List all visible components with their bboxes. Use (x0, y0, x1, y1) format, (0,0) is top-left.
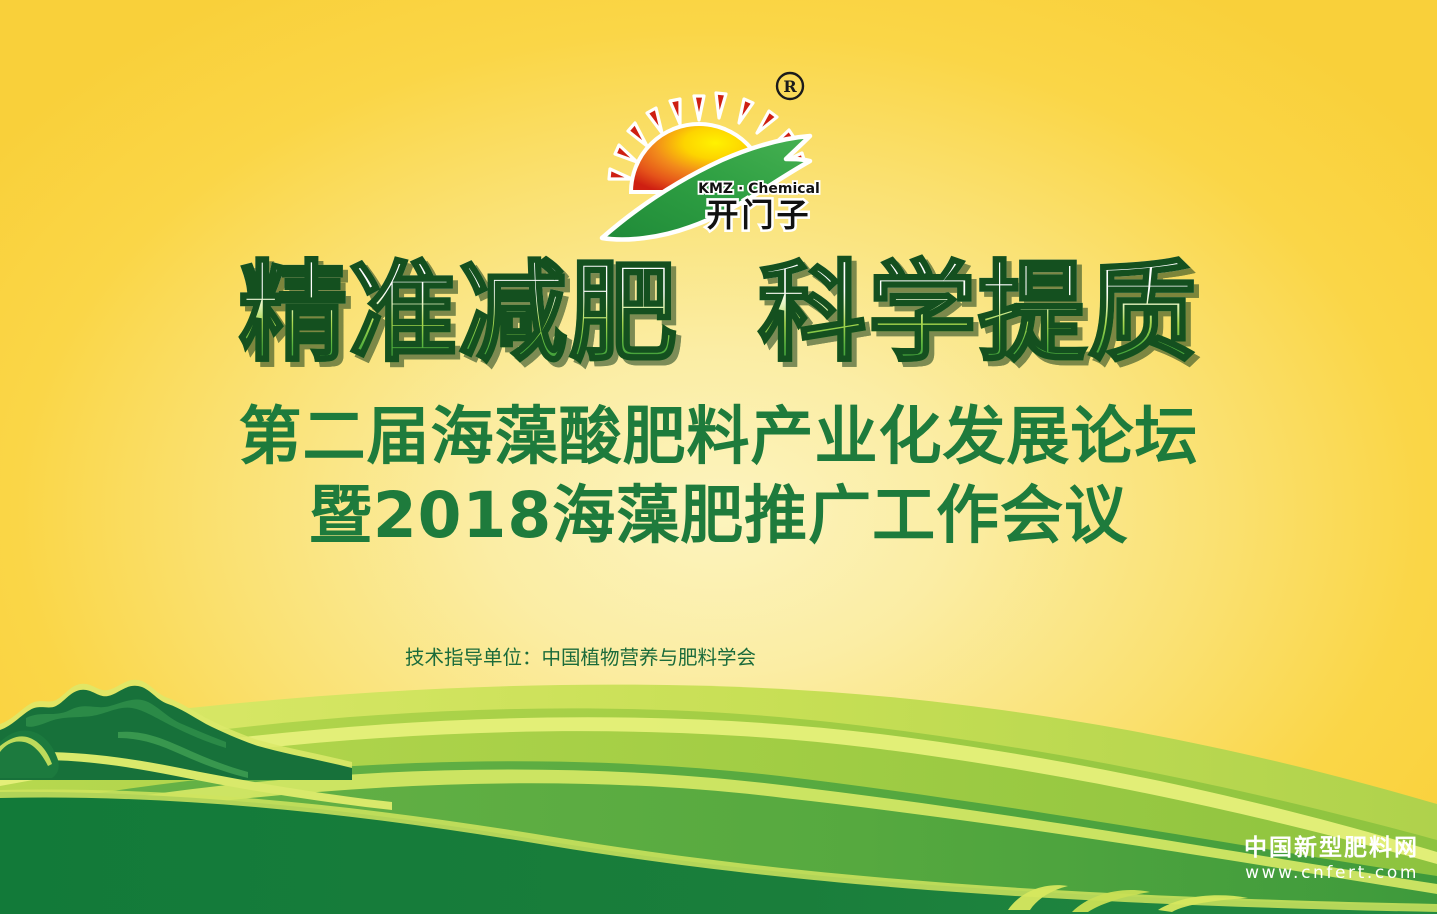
registered-trademark-icon: R (777, 73, 803, 99)
logo-brand-cn: 开门子 (706, 196, 811, 234)
svg-text:R: R (783, 77, 797, 96)
poster-subtitle-line1: 第二届海藻酸肥料产业化发展论坛 (0, 404, 1437, 470)
kmz-company-logo: R KMZ · Chemical 开门子 (594, 60, 844, 250)
poster-subtitle-line2: 暨2018海藻肥推广工作会议 (0, 483, 1437, 549)
poster-headline: 精准减肥 科学提质 (0, 258, 1437, 370)
logo-brand-latin: KMZ · Chemical (698, 181, 820, 197)
logo-brand-text: KMZ · Chemical 开门子 (698, 181, 820, 234)
conference-poster: R KMZ · Chemical 开门子 精准减肥 科学提质 第二届海藻酸肥料产… (0, 0, 1437, 914)
landscape-illustration (0, 614, 1437, 914)
